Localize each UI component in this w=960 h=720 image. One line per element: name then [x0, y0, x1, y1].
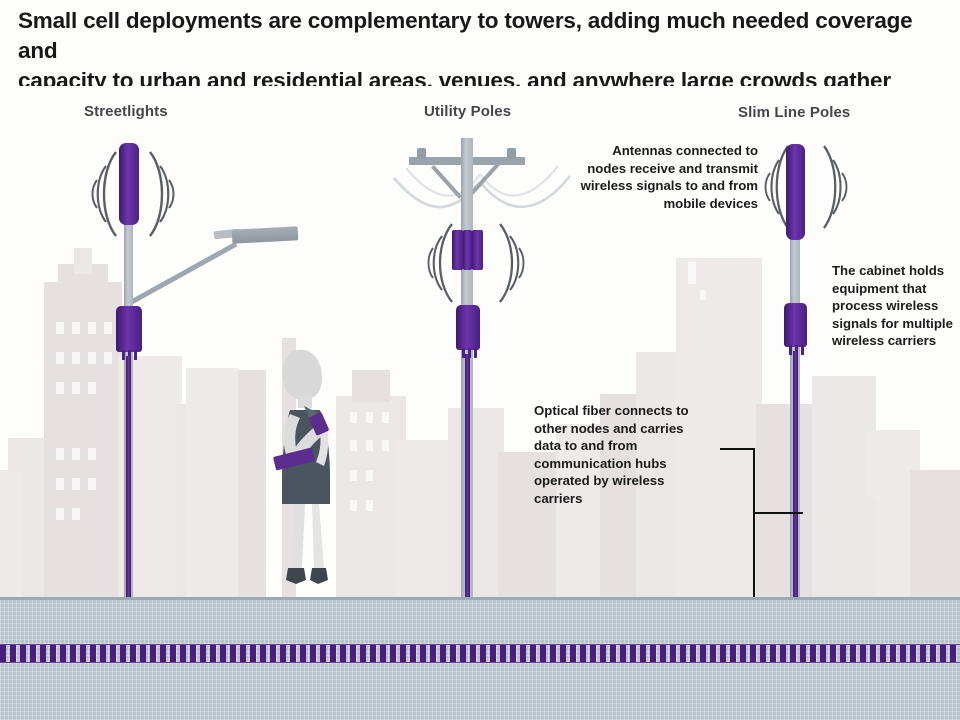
- utility-pole-insulator: [507, 148, 516, 159]
- column-title-streetlights: Streetlights: [84, 103, 168, 120]
- slim-line-pole-fiber-cable: [793, 351, 798, 612]
- utility-pole-node-panel: [463, 230, 472, 270]
- utility-pole-node-panel: [472, 230, 483, 270]
- skyline-building: [448, 408, 504, 598]
- building-window: [72, 322, 80, 334]
- building-window: [88, 352, 96, 364]
- building-window: [56, 352, 64, 364]
- building-window: [700, 290, 706, 300]
- slim-line-pole-antenna: [786, 144, 805, 240]
- skyline-building: [396, 440, 456, 598]
- cabinet-callout-line: signals for multiple: [832, 315, 960, 333]
- skyline-building: [74, 248, 92, 274]
- page-title: Small cell deployments are complementary…: [18, 6, 948, 96]
- building-window: [104, 322, 112, 334]
- skyline-building: [836, 498, 876, 598]
- signal-waves-icon: [818, 140, 860, 234]
- signal-waves-icon: [144, 142, 190, 246]
- signal-waves-icon: [76, 142, 122, 246]
- fiber-callout: Optical fiber connects to other nodes an…: [534, 402, 724, 508]
- antenna-callout: Antennas connected to nodes receive and …: [540, 142, 758, 212]
- skyline-building: [910, 470, 960, 598]
- fiber-callout-line: other nodes and carries: [534, 420, 724, 438]
- building-window: [88, 448, 96, 460]
- streetlight-antenna: [119, 143, 139, 225]
- cabinet-leg: [134, 350, 137, 360]
- streetlight-fiber-cable: [126, 356, 131, 612]
- building-window: [88, 382, 96, 394]
- underground-fiber-conduit: [0, 645, 960, 662]
- antenna-callout-line: nodes receive and transmit: [540, 160, 758, 178]
- building-window: [88, 322, 96, 334]
- fiber-callout-line: Optical fiber connects to: [534, 402, 724, 420]
- cabinet-leg: [801, 345, 804, 355]
- headline-line-1: Small cell deployments are complementary…: [18, 8, 912, 63]
- building-window: [382, 440, 389, 451]
- building-window: [366, 440, 373, 451]
- building-window: [56, 508, 64, 520]
- cabinet-callout-line: equipment that: [832, 280, 960, 298]
- building-window: [72, 478, 80, 490]
- utility-pole-cabinet: [456, 305, 480, 350]
- column-title-utility-poles: Utility Poles: [424, 103, 511, 120]
- skyline-building: [0, 470, 22, 598]
- building-window: [72, 352, 80, 364]
- conduit-edge: [0, 662, 960, 663]
- cabinet-callout-line: The cabinet holds: [832, 262, 960, 280]
- infographic-canvas: Small cell deployments are complementary…: [0, 0, 960, 720]
- antenna-callout-line: mobile devices: [540, 195, 758, 213]
- fiber-callout-line: operated by wireless: [534, 472, 724, 490]
- building-window: [72, 382, 80, 394]
- building-window: [56, 478, 64, 490]
- streetlight-cabinet: [116, 306, 142, 352]
- fiber-callout-line: carriers: [534, 490, 724, 508]
- building-window: [382, 412, 389, 423]
- building-window: [104, 352, 112, 364]
- fiber-leader-line: [720, 448, 755, 450]
- building-window: [366, 500, 373, 511]
- fiber-callout-line: communication hubs: [534, 455, 724, 473]
- avatar: [268, 344, 360, 599]
- column-title-slim-line-poles: Slim Line Poles: [738, 104, 850, 121]
- cabinet-callout-line: process wireless: [832, 297, 960, 315]
- utility-pole-insulator: [417, 148, 426, 159]
- cabinet-callout-line: wireless carriers: [832, 332, 960, 350]
- antenna-callout-line: wireless signals to and from: [540, 177, 758, 195]
- skyline-building: [756, 404, 818, 598]
- cabinet-leg: [122, 350, 125, 360]
- fiber-leader-branch: [753, 512, 803, 514]
- skyline-building: [186, 368, 238, 598]
- slim-line-pole-cabinet: [784, 303, 807, 347]
- building-window: [56, 322, 64, 334]
- building-window: [88, 478, 96, 490]
- building-window: [56, 382, 64, 394]
- building-window: [56, 448, 64, 460]
- antenna-callout-line: Antennas connected to: [540, 142, 758, 160]
- cabinet-leg: [474, 348, 477, 358]
- building-window: [366, 470, 373, 481]
- cabinet-leg: [789, 345, 792, 355]
- building-window: [688, 262, 696, 284]
- building-window: [72, 508, 80, 520]
- signal-waves-icon: [494, 218, 538, 308]
- utility-pole-fiber-cable: [465, 354, 470, 612]
- cabinet-callout: The cabinet holds equipment that process…: [832, 262, 960, 350]
- fiber-callout-line: data to and from: [534, 437, 724, 455]
- utility-pole-node-panel: [452, 230, 463, 270]
- building-window: [366, 412, 373, 423]
- building-window: [72, 448, 80, 460]
